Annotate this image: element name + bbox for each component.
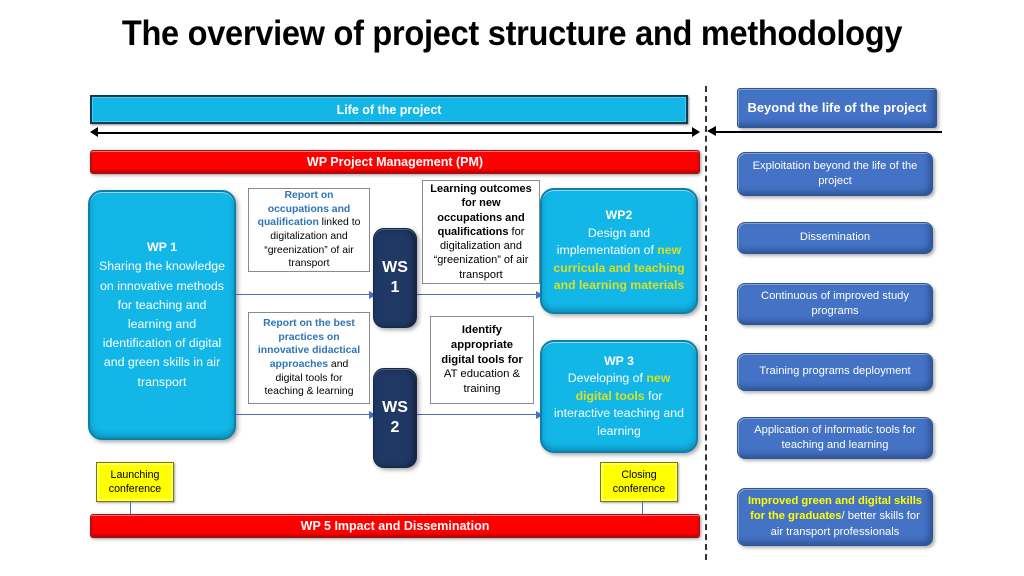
beyond-item-improved-skills: Improved green and digital skills for th… — [737, 488, 933, 546]
learning-outcomes-box: Learning outcomes for new occupations an… — [422, 180, 540, 284]
wp3-pre: Developing of — [568, 371, 647, 385]
life-of-project-span-arrow — [90, 127, 700, 138]
arrow-ws1-to-wp2 — [417, 290, 543, 299]
wp3-heading: WP 3 — [604, 354, 634, 368]
wp1-heading: WP 1 — [147, 240, 177, 254]
ws1-number: 1 — [391, 278, 400, 298]
life-of-project-bar: Life of the project — [90, 95, 688, 124]
arrow-wp1-to-ws1 — [236, 290, 376, 299]
identify-tools-highlight: Identify appropriate digital tools for — [441, 324, 523, 365]
ws2-box: WS 2 — [373, 368, 417, 468]
ws2-label: WS — [382, 398, 408, 418]
beyond-span-arrow — [707, 126, 942, 137]
arrow-line — [236, 294, 369, 295]
beyond-item-exploitation: Exploitation beyond the life of the proj… — [737, 152, 933, 196]
diagram-canvas: The overview of project structure and me… — [0, 0, 1024, 576]
launching-conference-callout: Launching conference — [96, 462, 174, 502]
wp3-box: WP 3 Developing of new digital tools for… — [540, 340, 698, 453]
arrow-line — [236, 414, 369, 415]
arrow-wp1-to-ws2 — [236, 410, 376, 419]
ws2-number: 2 — [391, 418, 400, 438]
beyond-item-study-programs: Continuous of improved study programs — [737, 283, 933, 325]
arrow-line — [96, 132, 694, 134]
wp2-pre: Design and implementation of — [557, 226, 657, 257]
wp1-body: Sharing the knowledge on innovative meth… — [99, 259, 225, 388]
wp1-box: WP 1 Sharing the knowledge on innovative… — [88, 190, 236, 440]
beyond-item-training-deployment: Training programs deployment — [737, 353, 933, 391]
identify-tools-rest: AT education & training — [444, 368, 520, 395]
closing-conference-callout: Closing conference — [600, 462, 678, 502]
ws1-label: WS — [382, 258, 408, 278]
identify-digital-tools-box: Identify appropriate digital tools for A… — [430, 316, 534, 404]
page-title: The overview of project structure and me… — [36, 14, 988, 54]
arrow-line — [417, 294, 536, 295]
beyond-life-header: Beyond the life of the project — [737, 88, 937, 128]
report-best-practices-box: Report on the best practices on innovati… — [248, 312, 370, 404]
wp2-box: WP2 Design and implementation of new cur… — [540, 188, 698, 314]
wp2-heading: WP2 — [606, 208, 633, 222]
wp-project-management-bar: WP Project Management (PM) — [90, 150, 700, 174]
section-divider — [705, 86, 707, 560]
arrow-ws2-to-wp3 — [417, 410, 543, 419]
arrow-line — [715, 131, 942, 133]
wp5-impact-dissemination-bar: WP 5 Impact and Dissemination — [90, 514, 700, 538]
report-occupations-box: Report on occupations and qualification … — [248, 188, 370, 272]
beyond-item-informatic-tools: Application of informatic tools for teac… — [737, 417, 933, 459]
ws1-box: WS 1 — [373, 228, 417, 328]
arrow-head-right — [692, 127, 700, 137]
beyond-item-dissemination: Dissemination — [737, 222, 933, 254]
arrow-line — [417, 414, 536, 415]
